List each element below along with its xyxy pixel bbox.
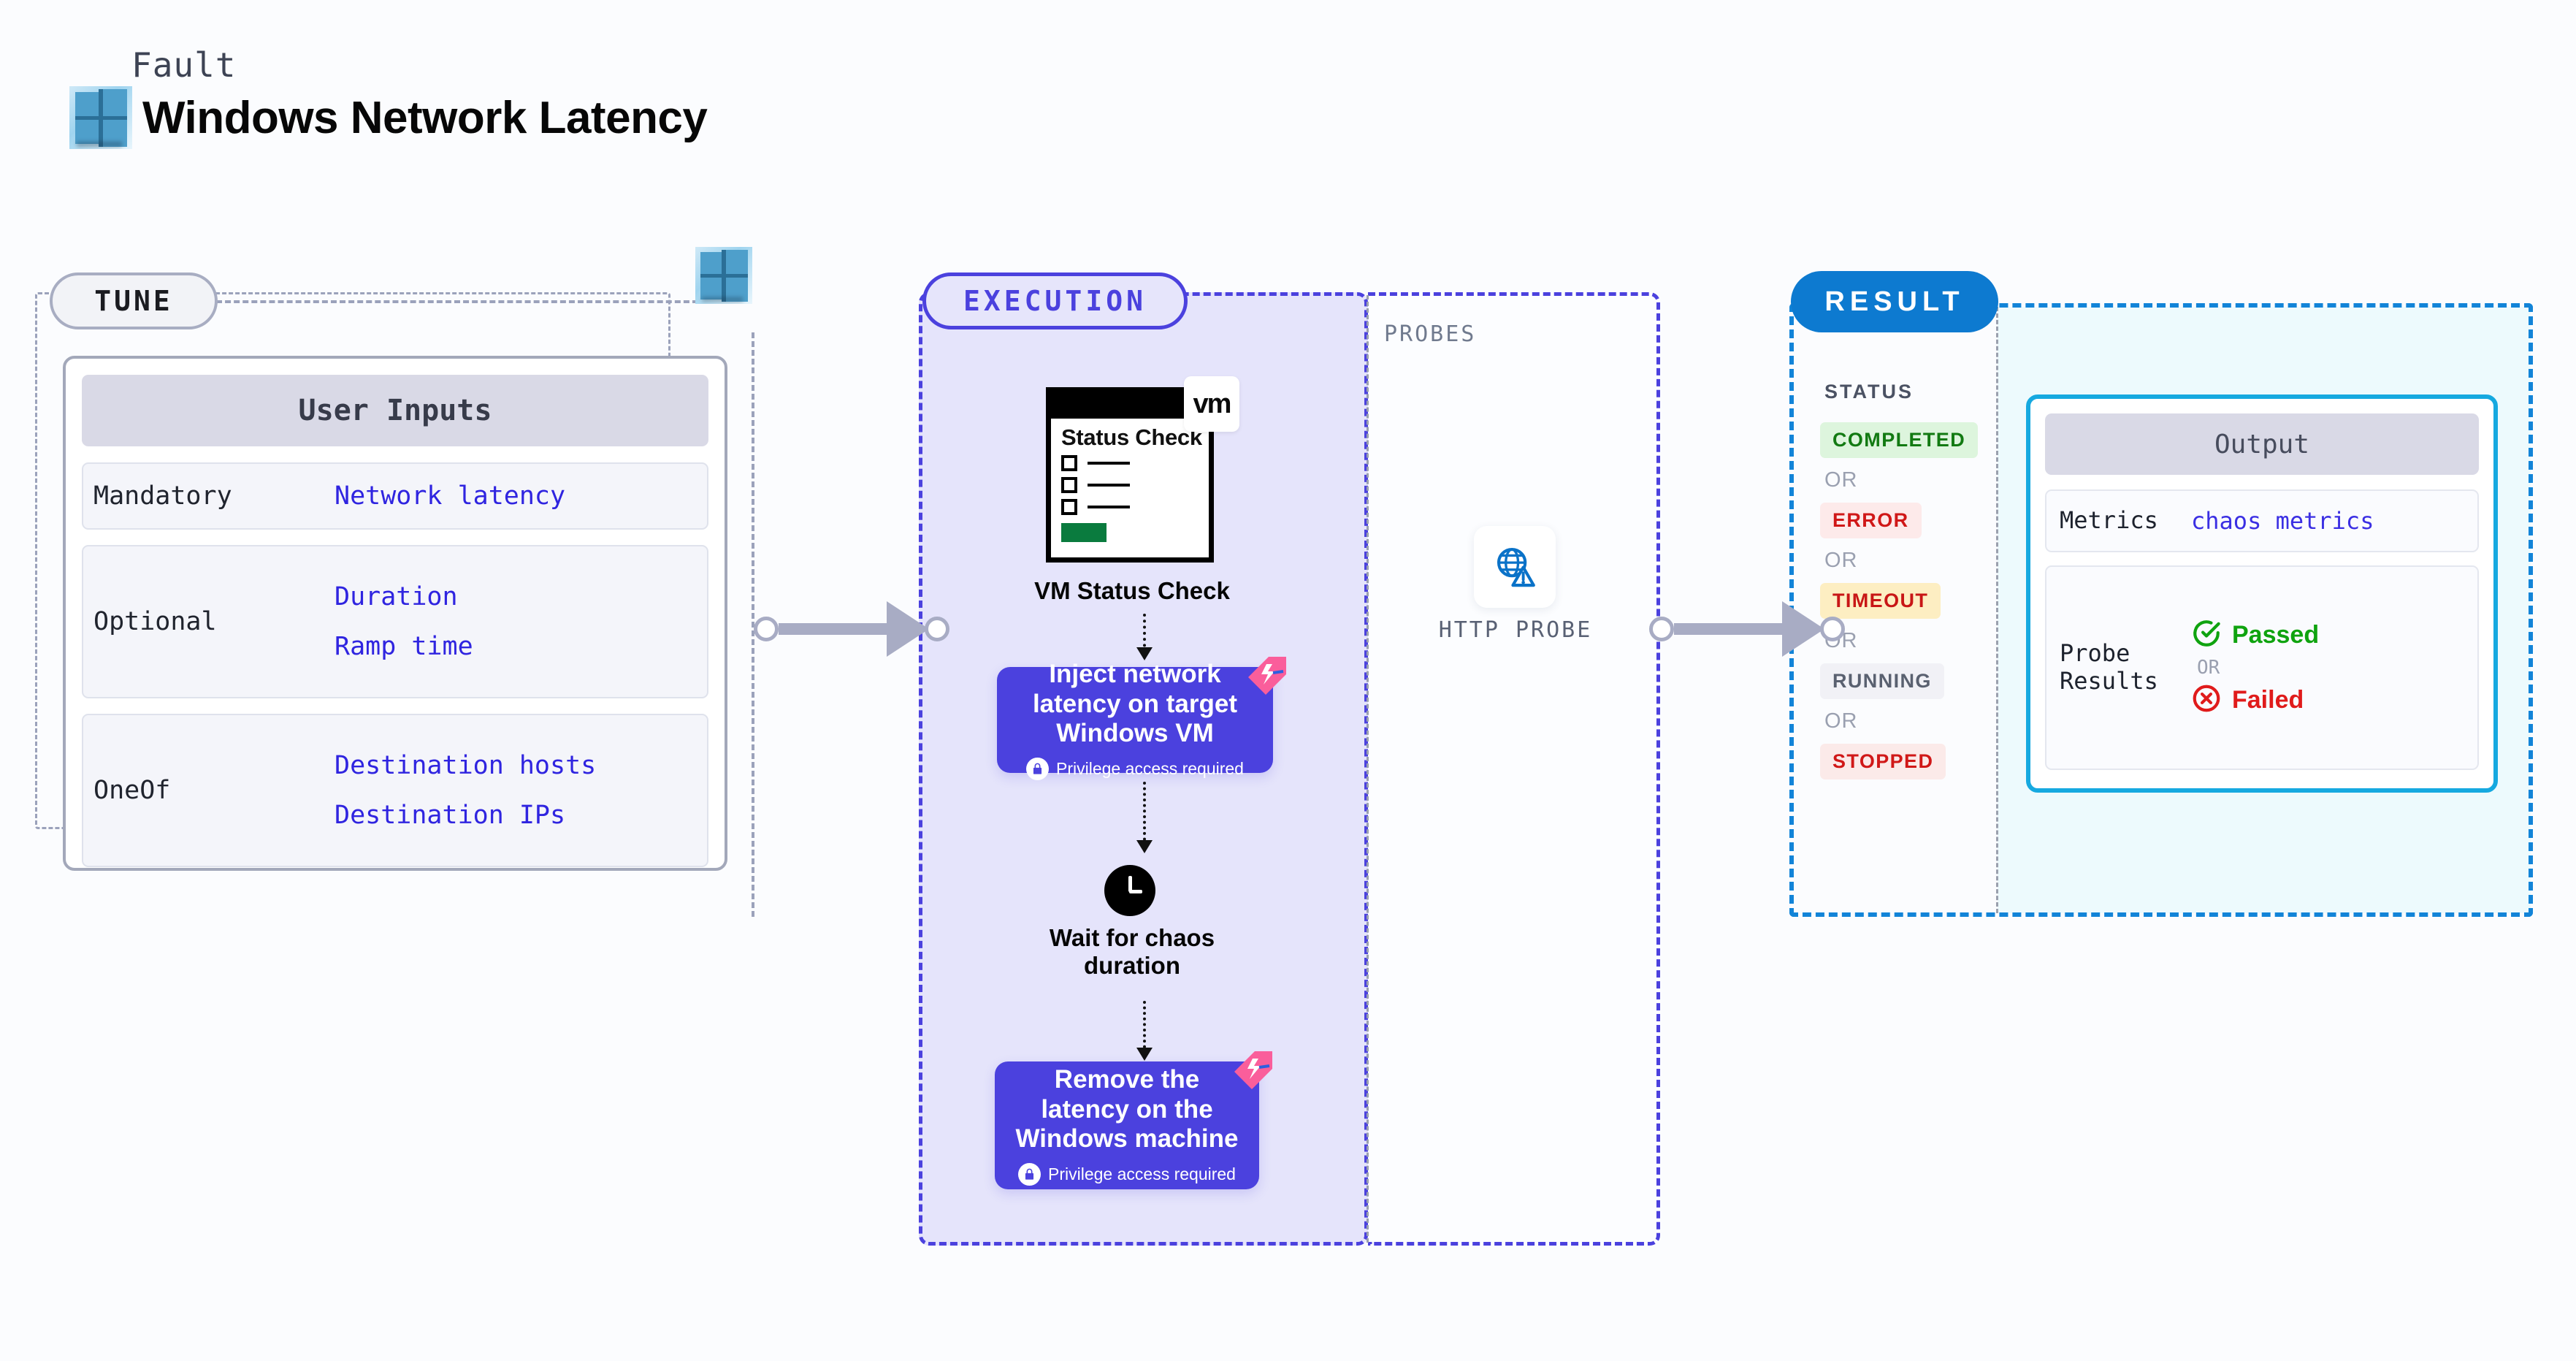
output-row-probe-results: Probe Results Passed OR [2045, 565, 2479, 770]
probe-label-http: HTTP PROBE [1424, 617, 1607, 643]
step-privilege-note: Privilege access required [1018, 1163, 1236, 1186]
output-card: Output Metrics chaos metrics Probe Resul… [2026, 394, 2498, 793]
vm-status-check-caption: VM Status Check [979, 577, 1285, 605]
status-or-2: OR [1824, 549, 1995, 573]
probe-card-http[interactable] [1474, 526, 1556, 608]
input-label-optional: Optional [93, 607, 335, 636]
probe-result-failed-label: Failed [2232, 686, 2304, 714]
output-label-probe-results: Probe Results [2060, 640, 2191, 695]
vm-badge: vm [1184, 376, 1239, 432]
page-title: Windows Network Latency [142, 92, 707, 144]
output-label-metrics: Metrics [2060, 507, 2191, 535]
probe-result-passed-label: Passed [2232, 621, 2319, 649]
connector-arrowhead [1782, 601, 1824, 657]
probe-result-failed: Failed [2191, 683, 2319, 717]
fault-label: Fault [131, 45, 707, 85]
status-badge-list: COMPLETED OR ERROR OR TIMEOUT OR RUNNING… [1820, 422, 1995, 779]
output-row-metrics: Metrics chaos metrics [2045, 489, 2479, 552]
status-badge-running: RUNNING [1820, 663, 1944, 699]
probes-divider [1367, 295, 1369, 1243]
x-circle-icon [2191, 683, 2222, 717]
step-title: Remove the latency on the Windows machin… [995, 1065, 1259, 1155]
check-circle-icon [2191, 618, 2222, 652]
status-or-1: OR [1824, 468, 1995, 492]
flow-arrow-3 [1143, 1001, 1146, 1059]
connector-start-dot [1649, 617, 1674, 641]
step-remove-latency[interactable]: Remove the latency on the Windows machin… [995, 1061, 1259, 1189]
connector-end-dot [1820, 617, 1845, 641]
input-label-oneof: OneOf [93, 776, 335, 805]
input-row-oneof: OneOf Destination hosts Destination IPs [82, 714, 708, 867]
probes-section-panel [1368, 292, 1660, 1246]
connector-bar [779, 623, 888, 635]
tune-windows-logo-icon [695, 247, 752, 308]
user-inputs-card: User Inputs Mandatory Network latency Op… [63, 356, 727, 871]
output-value-metrics[interactable]: chaos metrics [2191, 507, 2374, 535]
tune-section-pill: TUNE [50, 272, 218, 329]
status-badge-error: ERROR [1820, 503, 1922, 538]
lock-icon [1026, 758, 1049, 780]
clock-icon [1104, 865, 1155, 916]
chaos-flag-icon [1244, 652, 1289, 698]
output-header: Output [2045, 413, 2479, 475]
input-value-network-latency[interactable]: Network latency [335, 481, 565, 511]
status-badge-stopped: STOPPED [1820, 744, 1946, 779]
input-value-duration[interactable]: Duration [335, 582, 473, 611]
diagram-canvas: Fault Windows Network Latency [0, 0, 2576, 1361]
vm-status-check-icon: Status Check vm [1046, 387, 1214, 563]
step-title: Inject network latency on target Windows… [997, 660, 1273, 750]
result-section-pill: RESULT [1791, 271, 1998, 332]
step-inject-network-latency[interactable]: Inject network latency on target Windows… [997, 667, 1273, 773]
status-badge-completed: COMPLETED [1820, 422, 1978, 458]
step-privilege-note: Privilege access required [1026, 758, 1244, 780]
status-or-3: OR [1824, 629, 1995, 653]
flow-arrow-1 [1143, 614, 1146, 659]
status-or-4: OR [1824, 709, 1995, 733]
connector-execution-to-result [1649, 601, 1845, 657]
step-privilege-text: Privilege access required [1048, 1164, 1236, 1184]
step-privilege-text: Privilege access required [1056, 759, 1244, 779]
probe-result-or: OR [2197, 657, 2319, 679]
connector-tune-to-execution [754, 601, 949, 657]
flow-arrow-2 [1143, 782, 1146, 852]
wait-step-caption: Wait for chaos duration [1001, 924, 1264, 979]
connector-start-dot [754, 617, 779, 641]
connector-bar [1674, 623, 1784, 635]
windows-logo-icon [69, 86, 132, 149]
probes-title: PROBES [1384, 321, 1476, 347]
probe-result-passed: Passed [2191, 618, 2319, 652]
input-value-destination-ips[interactable]: Destination IPs [335, 801, 596, 830]
user-inputs-header: User Inputs [82, 375, 708, 446]
tune-dashed-connector [216, 300, 698, 303]
result-status-divider [1996, 307, 1998, 913]
input-row-mandatory: Mandatory Network latency [82, 462, 708, 530]
input-row-optional: Optional Duration Ramp time [82, 545, 708, 698]
chaos-flag-icon [1230, 1047, 1275, 1092]
execution-section-pill: EXECUTION [922, 272, 1188, 329]
lock-icon [1018, 1163, 1041, 1186]
page-header: Fault Windows Network Latency [69, 45, 707, 149]
connector-arrowhead [887, 601, 929, 657]
input-label-mandatory: Mandatory [93, 481, 335, 511]
connector-end-dot [925, 617, 949, 641]
globe-warning-icon [1492, 543, 1537, 592]
status-column-title: STATUS [1824, 381, 1914, 403]
input-value-ramp-time[interactable]: Ramp time [335, 632, 473, 661]
input-value-destination-hosts[interactable]: Destination hosts [335, 751, 596, 780]
